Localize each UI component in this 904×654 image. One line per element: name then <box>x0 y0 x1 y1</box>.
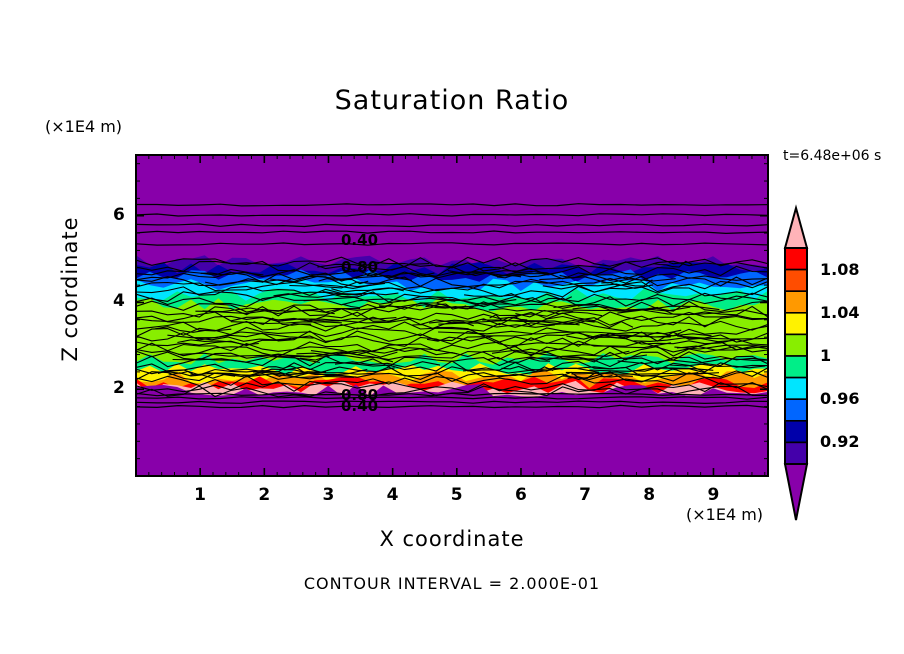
colorbar-band <box>785 399 807 421</box>
colorbar-tick-label: 1 <box>820 346 831 365</box>
x-tick-label: 1 <box>194 485 206 505</box>
inline-contour-label: 0.40 <box>341 397 378 415</box>
field-group <box>136 155 839 516</box>
inline-contour-label: 0.80 <box>341 258 378 276</box>
colorbar-band <box>785 442 807 464</box>
x-tick-label: 2 <box>258 485 270 505</box>
contour-plot <box>0 0 904 654</box>
x-tick-label: 5 <box>451 485 463 505</box>
colorbar-band <box>785 270 807 292</box>
x-tick-label: 9 <box>707 485 719 505</box>
colorbar-band <box>785 291 807 313</box>
inline-contour-label: 0.40 <box>341 231 378 249</box>
y-tick-label: 4 <box>113 291 125 311</box>
x-tick-label: 6 <box>515 485 527 505</box>
colorbar-tick-label: 0.92 <box>820 432 859 451</box>
colorbar-band <box>785 248 807 270</box>
x-tick-label: 7 <box>579 485 591 505</box>
x-tick-label: 8 <box>643 485 655 505</box>
colorbar-band <box>785 356 807 378</box>
colorbar-band <box>785 421 807 443</box>
colorbar-tick-label: 1.08 <box>820 260 859 279</box>
colorbar-band <box>785 334 807 356</box>
x-tick-label: 3 <box>322 485 334 505</box>
x-tick-label: 4 <box>387 485 399 505</box>
colorbar-band <box>785 313 807 335</box>
colorbar-under-arrow <box>785 464 807 520</box>
y-tick-label: 2 <box>113 378 125 398</box>
colorbar-over-arrow <box>785 208 807 248</box>
colorbar-tick-label: 0.96 <box>820 389 859 408</box>
y-tick-label: 6 <box>113 205 125 225</box>
colorbar-tick-label: 1.04 <box>820 303 859 322</box>
colorbar-band <box>785 378 807 400</box>
